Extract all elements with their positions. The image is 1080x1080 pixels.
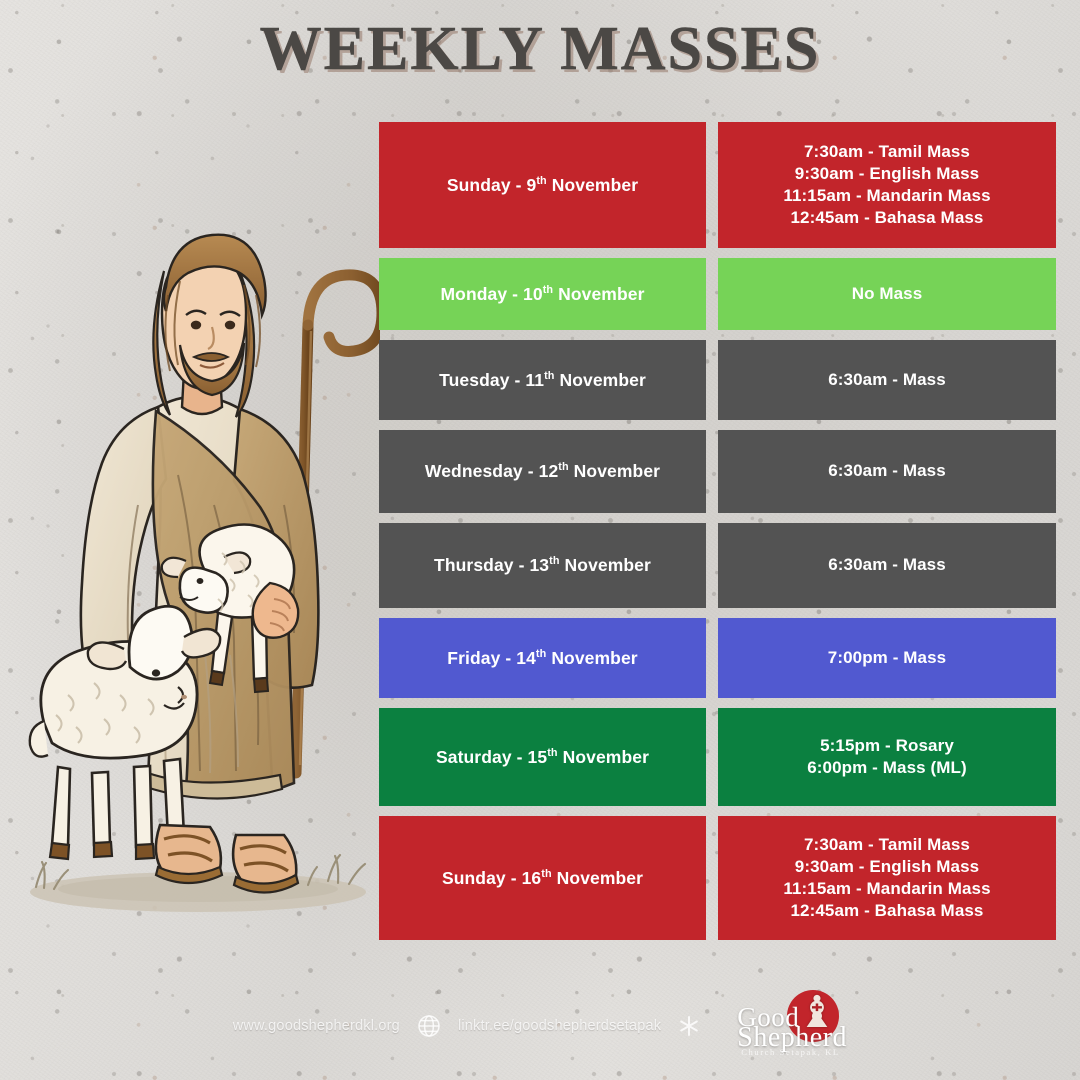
ordinal-suffix: th [536, 648, 546, 660]
schedule-time-line: 6:30am - Mass [828, 554, 946, 576]
schedule-day-label: Thursday - 13th November [434, 554, 651, 577]
schedule-times-cell: 6:30am - Mass [718, 430, 1056, 513]
schedule-day-cell: Saturday - 15th November [379, 708, 706, 806]
ordinal-suffix: th [544, 370, 554, 382]
ordinal-suffix: th [558, 461, 568, 473]
schedule-row: Friday - 14th November7:00pm - Mass [379, 618, 1056, 698]
mass-schedule-table: Sunday - 9th November7:30am - Tamil Mass… [379, 122, 1056, 950]
schedule-time-line: 7:30am - Tamil Mass [783, 834, 990, 856]
schedule-time-line: 9:30am - English Mass [783, 856, 990, 878]
schedule-times-cell: 6:30am - Mass [718, 523, 1056, 608]
parish-logo: ♝ Good Shepherd Church Setapak, KL [735, 996, 847, 1056]
schedule-row: Thursday - 13th November6:30am - Mass [379, 523, 1056, 608]
schedule-times-list: 7:30am - Tamil Mass9:30am - English Mass… [783, 834, 990, 922]
ordinal-suffix: th [543, 284, 553, 296]
schedule-time-line: 11:15am - Mandarin Mass [783, 185, 990, 207]
schedule-row: Saturday - 15th November5:15pm - Rosary6… [379, 708, 1056, 806]
schedule-times-cell: No Mass [718, 258, 1056, 330]
schedule-time-line: 12:45am - Bahasa Mass [783, 900, 990, 922]
schedule-day-label: Friday - 14th November [447, 647, 637, 670]
schedule-day-cell: Thursday - 13th November [379, 523, 706, 608]
ordinal-suffix: th [549, 555, 559, 567]
schedule-times-list: No Mass [852, 283, 923, 305]
schedule-time-line: 6:00pm - Mass (ML) [807, 757, 967, 779]
schedule-time-line: 12:45am - Bahasa Mass [783, 207, 990, 229]
jesus-good-shepherd-illustration [8, 175, 380, 935]
schedule-time-line: 6:30am - Mass [828, 369, 946, 391]
schedule-day-cell: Sunday - 16th November [379, 816, 706, 940]
ordinal-suffix: th [536, 175, 546, 187]
schedule-row: Wednesday - 12th November6:30am - Mass [379, 430, 1056, 513]
schedule-row: Sunday - 16th November7:30am - Tamil Mas… [379, 816, 1056, 940]
schedule-row: Sunday - 9th November7:30am - Tamil Mass… [379, 122, 1056, 248]
poster-canvas: WEEKLY MASSES [0, 0, 1080, 1080]
schedule-times-cell: 7:00pm - Mass [718, 618, 1056, 698]
schedule-times-cell: 7:30am - Tamil Mass9:30am - English Mass… [718, 816, 1056, 940]
schedule-times-cell: 5:15pm - Rosary6:00pm - Mass (ML) [718, 708, 1056, 806]
schedule-time-line: 6:30am - Mass [828, 460, 946, 482]
schedule-day-label: Saturday - 15th November [436, 746, 649, 769]
schedule-times-list: 7:30am - Tamil Mass9:30am - English Mass… [783, 141, 990, 229]
page-title: WEEKLY MASSES [0, 14, 1080, 85]
schedule-day-cell: Wednesday - 12th November [379, 430, 706, 513]
schedule-times-cell: 6:30am - Mass [718, 340, 1056, 420]
schedule-time-line: 11:15am - Mandarin Mass [783, 878, 990, 900]
logo-line-3: Church Setapak, KL [741, 1047, 839, 1057]
schedule-day-cell: Friday - 14th November [379, 618, 706, 698]
schedule-day-cell: Monday - 10th November [379, 258, 706, 330]
schedule-day-label: Wednesday - 12th November [425, 460, 660, 483]
schedule-row: Tuesday - 11th November6:30am - Mass [379, 340, 1056, 420]
schedule-times-list: 6:30am - Mass [828, 554, 946, 576]
schedule-time-line: 7:00pm - Mass [828, 647, 946, 669]
globe-icon [416, 1013, 442, 1039]
schedule-day-cell: Sunday - 9th November [379, 122, 706, 248]
schedule-times-cell: 7:30am - Tamil Mass9:30am - English Mass… [718, 122, 1056, 248]
schedule-times-list: 7:00pm - Mass [828, 647, 946, 669]
schedule-day-cell: Tuesday - 11th November [379, 340, 706, 420]
schedule-times-list: 5:15pm - Rosary6:00pm - Mass (ML) [807, 735, 967, 779]
ordinal-suffix: th [547, 747, 557, 759]
website-url[interactable]: www.goodshepherdkl.org [233, 1018, 400, 1034]
schedule-times-list: 6:30am - Mass [828, 460, 946, 482]
schedule-time-line: No Mass [852, 283, 923, 305]
schedule-time-line: 9:30am - English Mass [783, 163, 990, 185]
schedule-row: Monday - 10th NovemberNo Mass [379, 258, 1056, 330]
schedule-day-label: Monday - 10th November [440, 283, 644, 306]
schedule-day-label: Sunday - 16th November [442, 867, 643, 890]
schedule-times-list: 6:30am - Mass [828, 369, 946, 391]
footer: www.goodshepherdkl.org linktr.ee/goodshe… [0, 998, 1080, 1054]
schedule-day-label: Sunday - 9th November [447, 174, 638, 197]
linktree-url[interactable]: linktr.ee/goodshepherdsetapak [458, 1018, 661, 1034]
asterisk-icon [677, 1014, 701, 1038]
schedule-time-line: 5:15pm - Rosary [807, 735, 967, 757]
schedule-day-label: Tuesday - 11th November [439, 369, 646, 392]
schedule-time-line: 7:30am - Tamil Mass [783, 141, 990, 163]
ordinal-suffix: th [541, 868, 551, 880]
